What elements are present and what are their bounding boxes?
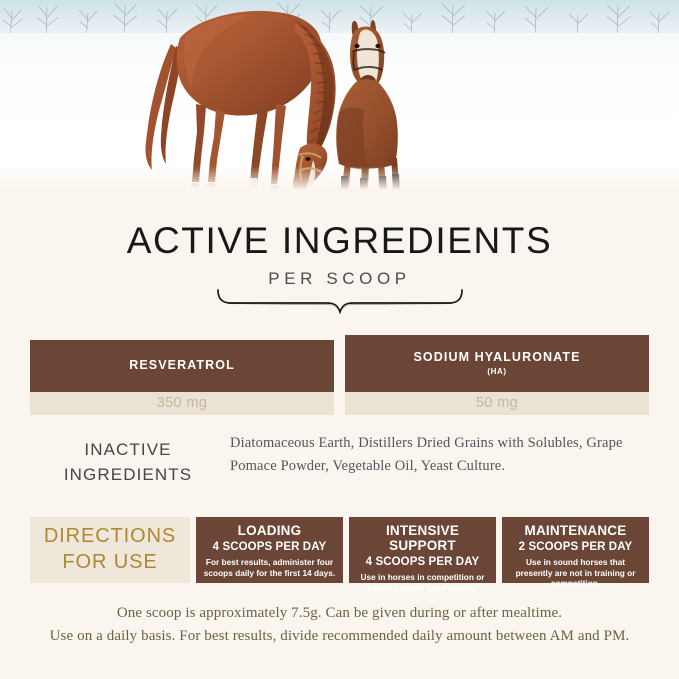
title-block: ACTIVE INGREDIENTS PER SCOOP: [0, 222, 679, 287]
ingredient-amount: 350 mg: [30, 392, 334, 415]
ingredient-header: RESVERATROL: [30, 340, 334, 392]
ingredient-amount: 50 mg: [345, 392, 649, 415]
footer-line-2: Use on a daily basis. For best results, …: [0, 625, 679, 648]
directions-box-maintenance: MAINTENANCE 2 SCOOPS PER DAY Use in soun…: [502, 517, 649, 583]
page-subtitle: PER SCOOP: [0, 270, 679, 287]
page-title: ACTIVE INGREDIENTS: [0, 222, 679, 259]
mare-figure: [145, 11, 335, 191]
directions-heading: LOADING: [238, 524, 302, 539]
ingredient-name: RESVERATROL: [129, 359, 235, 373]
ingredient-abbreviation: (HA): [487, 367, 506, 376]
directions-detail: For best results, administer four scoops…: [202, 557, 337, 578]
product-label-page: ACTIVE INGREDIENTS PER SCOOP RESVERATROL…: [0, 0, 679, 679]
directions-detail: Use in sound horses that presently are n…: [508, 557, 643, 588]
active-ingredients-bars: RESVERATROL 350 mg SODIUM HYALURONATE (H…: [30, 340, 649, 415]
inactive-label-line-1: INACTIVE: [30, 438, 226, 463]
active-ingredient-column: SODIUM HYALURONATE (HA) 50 mg: [345, 335, 649, 415]
footer-note: One scoop is approximately 7.5g. Can be …: [0, 602, 679, 648]
directions-heading: INTENSIVE SUPPORT: [355, 524, 490, 554]
directions-dose: 4 SCOOPS PER DAY: [366, 556, 480, 569]
inactive-label-line-2: INGREDIENTS: [30, 463, 226, 488]
mare-and-foal-figure: [0, 0, 679, 192]
ingredient-name: SODIUM HYALURONATE: [413, 351, 580, 365]
footer-line-1: One scoop is approximately 7.5g. Can be …: [0, 602, 679, 625]
directions-heading: MAINTENANCE: [525, 524, 627, 539]
directions-title-line-2: FOR USE: [62, 550, 157, 576]
hero-photo: [0, 0, 679, 192]
directions-dose: 4 SCOOPS PER DAY: [213, 541, 327, 554]
inactive-ingredients-text: Diatomaceous Earth, Distillers Dried Gra…: [226, 432, 649, 479]
directions-title: DIRECTIONS FOR USE: [30, 517, 190, 583]
photo-bottom-fade: [0, 166, 679, 192]
active-ingredient-column: RESVERATROL 350 mg: [30, 340, 334, 415]
ingredient-header: SODIUM HYALURONATE (HA): [345, 335, 649, 392]
decorative-divider: [0, 288, 679, 314]
directions-for-use-section: DIRECTIONS FOR USE LOADING 4 SCOOPS PER …: [30, 517, 649, 583]
directions-box-loading: LOADING 4 SCOOPS PER DAY For best result…: [196, 517, 343, 583]
directions-box-intensive-support: INTENSIVE SUPPORT 4 SCOOPS PER DAY Use i…: [349, 517, 496, 583]
directions-dose: 2 SCOOPS PER DAY: [519, 541, 633, 554]
directions-title-line-1: DIRECTIONS: [44, 524, 176, 550]
directions-detail: Use in horses in competition or training…: [355, 572, 490, 593]
inactive-ingredients-section: INACTIVE INGREDIENTS Diatomaceous Earth,…: [30, 432, 649, 487]
brace-divider-icon: [215, 288, 465, 314]
inactive-ingredients-label: INACTIVE INGREDIENTS: [30, 432, 226, 487]
